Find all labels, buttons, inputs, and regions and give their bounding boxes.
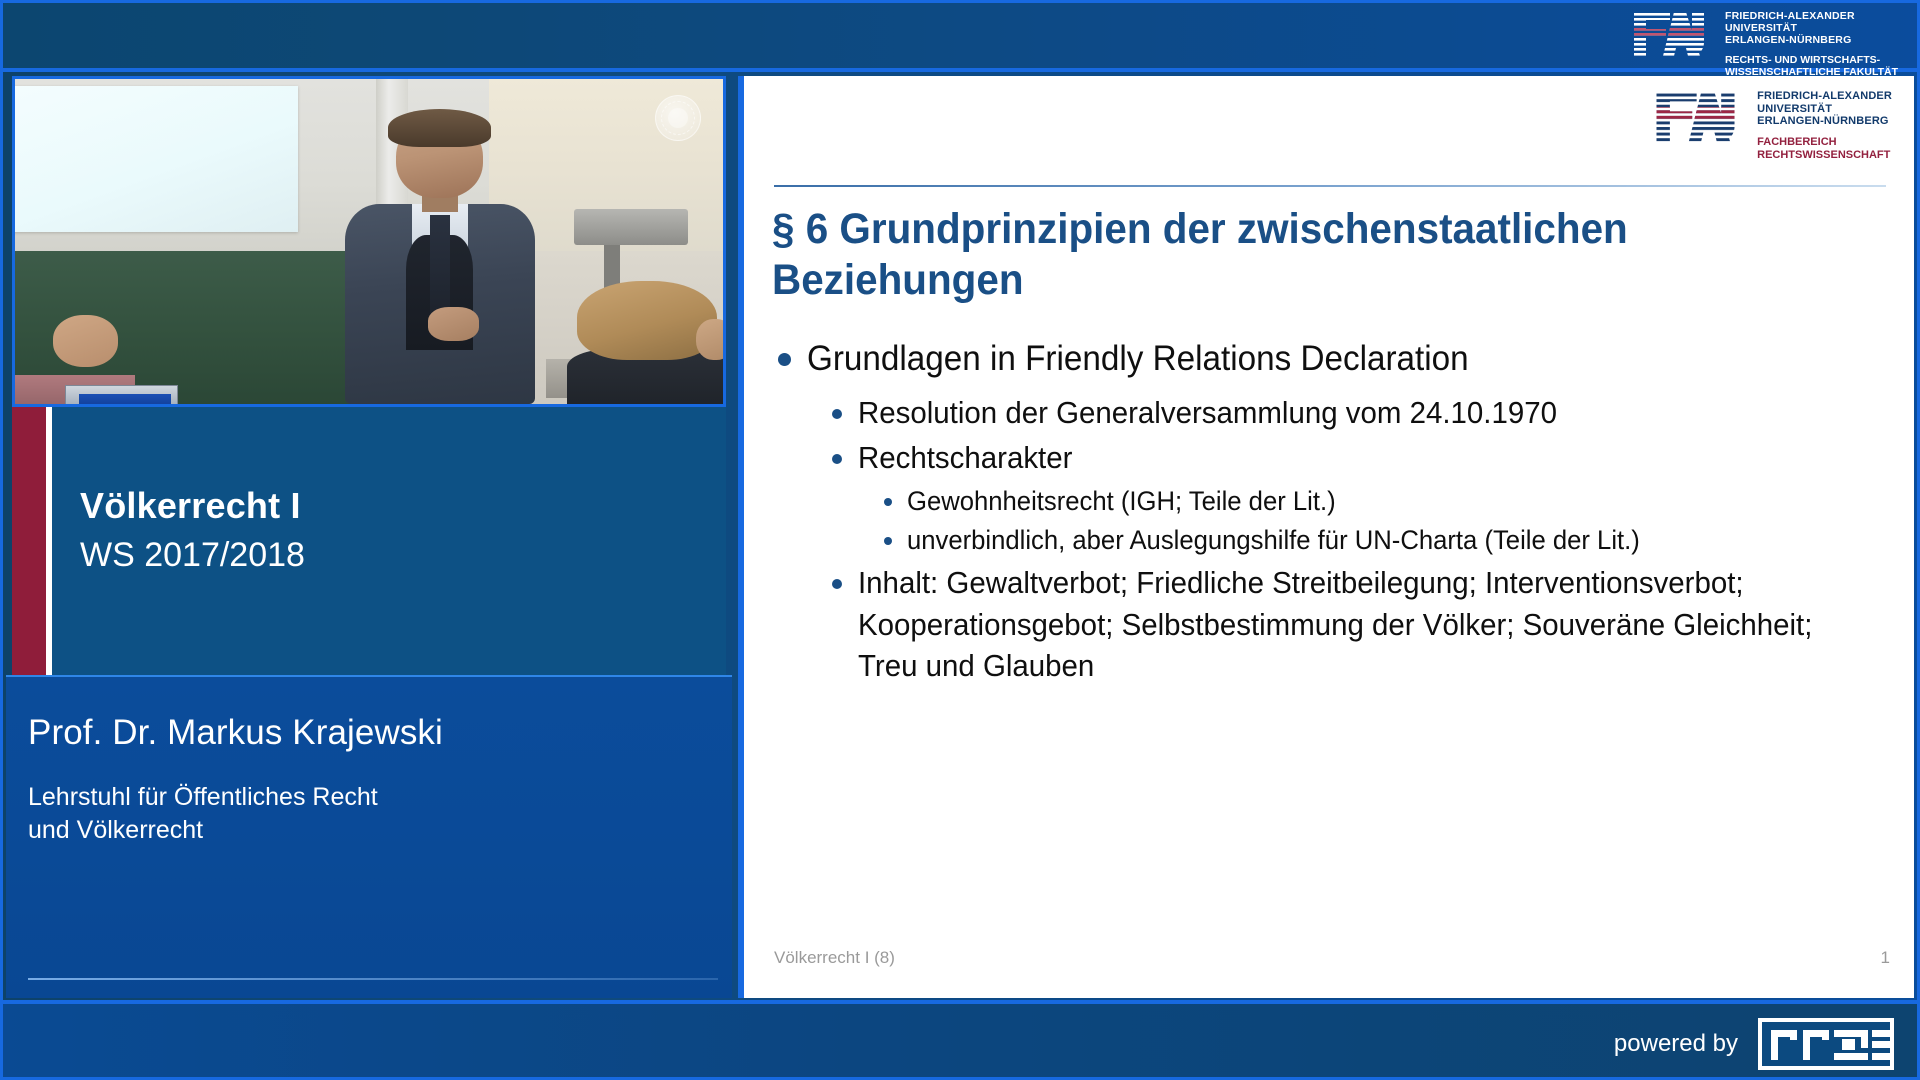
bullet-level-3: unverbindlich, aber Auslegungshilfe für … [774, 522, 1894, 559]
bullet-text: Resolution der Generalversammlung vom 24… [858, 392, 1557, 434]
bullet-dot-icon [884, 498, 892, 506]
fau-logo-icon [1652, 88, 1748, 146]
bullet-text: Grundlagen in Friendly Relations Declara… [807, 336, 1469, 382]
app-footer-bar: powered by [0, 1000, 1920, 1080]
student-laptop-screen [79, 394, 171, 404]
university-seal-watermark-icon [655, 95, 701, 141]
presenter-chair: Lehrstuhl für Öffentliches Recht und Völ… [28, 781, 732, 847]
bullet-text: Inhalt: Gewaltverbot; Friedliche Streitb… [858, 562, 1818, 688]
bullet-level-3: Gewohnheitsrecht (IGH; Teile der Lit.) [774, 483, 1894, 520]
bullet-text: Rechtscharakter [858, 437, 1072, 479]
app-header-bar: FRIEDRICH-ALEXANDER UNIVERSITÄT ERLANGEN… [0, 0, 1920, 72]
bullet-dot-icon [832, 579, 842, 589]
course-term: WS 2017/2018 [80, 536, 726, 575]
bullet-level-2: Inhalt: Gewaltverbot; Friedliche Streitb… [774, 562, 1894, 688]
bullet-dot-icon [884, 537, 892, 545]
fau-slide-name-line-1: FRIEDRICH-ALEXANDER [1757, 90, 1892, 103]
student-right-figure [567, 281, 723, 405]
bullet-dot-icon [832, 409, 842, 419]
course-title-block: Völkerrecht I WS 2017/2018 [12, 407, 726, 675]
fau-slide-name-line-3: ERLANGEN-NÜRNBERG [1757, 115, 1892, 128]
bullet-dot-icon [832, 454, 842, 464]
bullet-level-1: Grundlagen in Friendly Relations Declara… [774, 336, 1894, 382]
lecture-video[interactable] [12, 76, 726, 407]
bullet-text: Gewohnheitsrecht (IGH; Teile der Lit.) [907, 483, 1336, 520]
course-title-text: Völkerrecht I WS 2017/2018 [52, 407, 726, 675]
accent-bar [12, 407, 46, 675]
fau-logo-icon [1630, 8, 1716, 60]
slide-body: Grundlagen in Friendly Relations Declara… [774, 336, 1894, 691]
bullet-dot-icon [778, 353, 791, 366]
rrze-logo-icon [1758, 1018, 1894, 1070]
presenter-chair-line-1: Lehrstuhl für Öffentliches Recht [28, 781, 732, 814]
left-column: Völkerrecht I WS 2017/2018 Prof. Dr. Mar… [6, 76, 732, 998]
overhead-projector [574, 209, 687, 245]
fau-slide-name-line-2: UNIVERSITÄT [1757, 103, 1892, 116]
projection-screen [15, 86, 298, 232]
powered-by-label: powered by [1614, 1030, 1738, 1058]
fau-slide-dept-line-1: FACHBEREICH [1757, 136, 1892, 149]
video-frame [15, 79, 723, 404]
presenter-divider [28, 978, 718, 980]
slide-panel[interactable]: FRIEDRICH-ALEXANDER UNIVERSITÄT ERLANGEN… [738, 76, 1914, 998]
bullet-level-2: Resolution der Generalversammlung vom 24… [774, 392, 1894, 434]
course-title: Völkerrecht I [80, 485, 726, 527]
bullet-level-2: Rechtscharakter [774, 437, 1894, 479]
slide-page-number: 1 [1881, 948, 1890, 968]
fau-name-line-3: ERLANGEN-NÜRNBERG [1725, 34, 1898, 46]
lecture-player-root: FRIEDRICH-ALEXANDER UNIVERSITÄT ERLANGEN… [0, 0, 1920, 1080]
fau-header-logo-text: FRIEDRICH-ALEXANDER UNIVERSITÄT ERLANGEN… [1725, 8, 1898, 78]
bullet-text: unverbindlich, aber Auslegungshilfe für … [907, 522, 1640, 559]
slide-title: § 6 Grundprinzipien der zwischenstaatlic… [772, 204, 1815, 305]
slide-title-divider [774, 185, 1886, 187]
fau-slide-logo-text: FRIEDRICH-ALEXANDER UNIVERSITÄT ERLANGEN… [1757, 88, 1892, 161]
slide-footer: Völkerrecht I (8) 1 [744, 940, 1914, 998]
presenter-block: Prof. Dr. Markus Krajewski Lehrstuhl für… [6, 675, 732, 998]
lecturer-figure [341, 118, 539, 404]
presenter-chair-line-2: und Völkerrecht [28, 814, 732, 847]
fau-name-line-1: FRIEDRICH-ALEXANDER [1725, 10, 1898, 22]
fau-name-line-2: UNIVERSITÄT [1725, 22, 1898, 34]
presenter-name: Prof. Dr. Markus Krajewski [28, 713, 732, 753]
fau-header-logo: FRIEDRICH-ALEXANDER UNIVERSITÄT ERLANGEN… [1630, 8, 1898, 78]
powered-by-group: powered by [1614, 1018, 1894, 1070]
fau-slide-dept-line-2: RECHTSWISSENSCHAFT [1757, 149, 1892, 162]
slide-footer-label: Völkerrecht I (8) [774, 948, 895, 968]
fau-slide-logo: FRIEDRICH-ALEXANDER UNIVERSITÄT ERLANGEN… [1652, 88, 1892, 161]
fau-faculty-line-1: RECHTS- UND WIRTSCHAFTS- [1725, 54, 1898, 66]
